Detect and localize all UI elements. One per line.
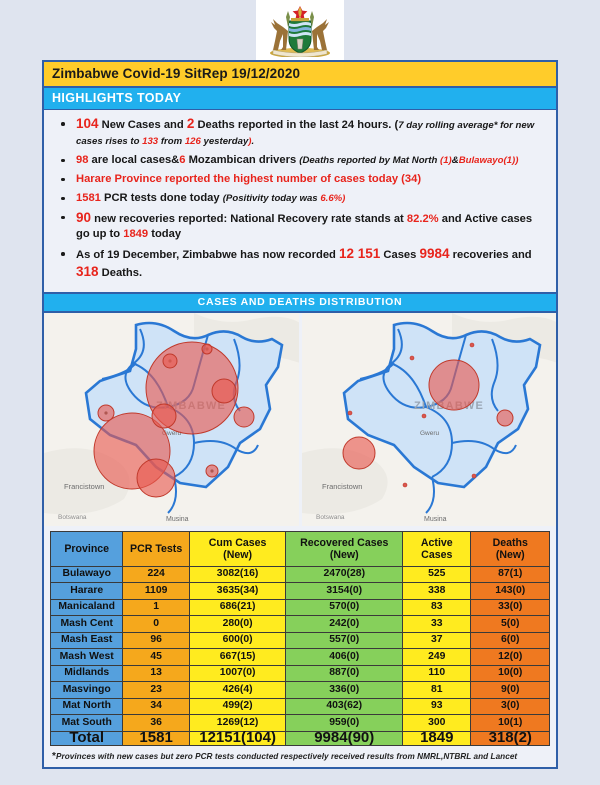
svg-text:Musina: Musina xyxy=(166,516,189,523)
highlight-recoveries: 90 new recoveries reported: National Rec… xyxy=(74,210,546,243)
cell-rec: 336(0) xyxy=(286,682,403,699)
cell-cum: 600(0) xyxy=(189,632,286,649)
cell-cum: 12151(104) xyxy=(189,731,286,745)
cell-dth: 5(0) xyxy=(471,616,550,633)
cell-cum: 426(4) xyxy=(189,682,286,699)
map-bubble xyxy=(429,360,479,410)
table-row: Mash West45667(15)406(0)24912(0) xyxy=(51,649,550,666)
cell-pcr: 1109 xyxy=(123,583,189,600)
map-bubble xyxy=(234,407,254,427)
cell-cum: 1007(0) xyxy=(189,665,286,682)
svg-text:Botswana: Botswana xyxy=(58,514,87,521)
highlight-new-cases-deaths: 104 New Cases and 2 Deaths reported in t… xyxy=(74,116,546,149)
cell-pcr: 34 xyxy=(123,698,189,715)
map-bubble xyxy=(472,474,476,478)
page-title: Zimbabwe Covid-19 SitRep 19/12/2020 xyxy=(44,62,556,88)
cell-act: 93 xyxy=(403,698,471,715)
coat-of-arms-icon xyxy=(261,3,339,57)
col-header-province: Province xyxy=(51,532,123,567)
cell-cum: 3082(16) xyxy=(189,566,286,583)
cell-province: Harare xyxy=(51,583,123,600)
cell-rec: 403(62) xyxy=(286,698,403,715)
cell-rec: 570(0) xyxy=(286,599,403,616)
cell-dth: 10(0) xyxy=(471,665,550,682)
cell-act: 81 xyxy=(403,682,471,699)
map-bubble xyxy=(497,410,513,426)
table-body: Bulawayo2243082(16)2470(28)52587(1)Harar… xyxy=(51,566,550,745)
zimbabwe-coat-of-arms-emblem xyxy=(256,0,344,62)
table-row: Masvingo23426(4)336(0)819(0) xyxy=(51,682,550,699)
cell-dth: 318(2) xyxy=(471,731,550,745)
cell-pcr: 1 xyxy=(123,599,189,616)
cell-rec: 242(0) xyxy=(286,616,403,633)
map-bubble xyxy=(98,405,114,421)
cell-act: 37 xyxy=(403,632,471,649)
svg-text:Francistown: Francistown xyxy=(322,482,362,491)
map-bubble xyxy=(343,437,375,469)
cell-province: Bulawayo xyxy=(51,566,123,583)
table-footnote: *Provinces with new cases but zero PCR t… xyxy=(44,748,556,767)
cell-dth: 143(0) xyxy=(471,583,550,600)
map-bubble xyxy=(202,344,212,354)
svg-text:Gweru: Gweru xyxy=(420,430,440,437)
map-bubble xyxy=(137,459,175,497)
table-header-row: Province PCR Tests Cum Cases (New) Recov… xyxy=(51,532,550,567)
report-card: Zimbabwe Covid-19 SitRep 19/12/2020 HIGH… xyxy=(42,60,558,769)
cell-rec: 3154(0) xyxy=(286,583,403,600)
map-bubble xyxy=(152,404,176,428)
map-bubble xyxy=(470,343,474,347)
map-bubble xyxy=(206,465,218,477)
cell-act: 525 xyxy=(403,566,471,583)
map-bubble xyxy=(410,356,414,360)
map-bubble xyxy=(422,414,426,418)
cell-pcr: 224 xyxy=(123,566,189,583)
cell-cum: 667(15) xyxy=(189,649,286,666)
cases-map-graphic: ZIMBABWE Francistown Gweru Musina Botswa… xyxy=(44,313,299,526)
province-table-wrap: Province PCR Tests Cum Cases (New) Recov… xyxy=(44,526,556,748)
cell-cum: 3635(34) xyxy=(189,583,286,600)
table-row: Mat South361269(12)959(0)30010(1) xyxy=(51,715,550,732)
map-bubble xyxy=(403,483,407,487)
table-total-row: Total158112151(104)9984(90)1849318(2) xyxy=(51,731,550,745)
col-header-pcr-tests: PCR Tests xyxy=(123,532,189,567)
table-row: Bulawayo2243082(16)2470(28)52587(1) xyxy=(51,566,550,583)
cases-map-pane[interactable]: ZIMBABWE Francistown Gweru Musina Botswa… xyxy=(44,313,299,526)
cell-act: 33 xyxy=(403,616,471,633)
cell-pcr: 0 xyxy=(123,616,189,633)
deaths-map-pane[interactable]: ZIMBABWE Francistown Gweru Musina Botswa… xyxy=(299,313,557,526)
table-row: Mash Cent0280(0)242(0)335(0) xyxy=(51,616,550,633)
deaths-map-graphic: ZIMBABWE Francistown Gweru Musina Botswa… xyxy=(302,313,557,526)
cell-pcr: 45 xyxy=(123,649,189,666)
highlight-local-cases-drivers: 98 are local cases&6 Mozambican drivers … xyxy=(74,153,546,169)
cell-rec: 887(0) xyxy=(286,665,403,682)
cell-rec: 406(0) xyxy=(286,649,403,666)
col-header-active-cases: Active Cases xyxy=(403,532,471,567)
col-header-recovered-cases: Recovered Cases (New) xyxy=(286,532,403,567)
table-row: Mash East96600(0)557(0)376(0) xyxy=(51,632,550,649)
table-row: Harare11093635(34)3154(0)338143(0) xyxy=(51,583,550,600)
cell-province: Mash Cent xyxy=(51,616,123,633)
cell-province: Masvingo xyxy=(51,682,123,699)
highlights-list: 104 New Cases and 2 Deaths reported in t… xyxy=(48,116,546,281)
highlights-bullet-area: 104 New Cases and 2 Deaths reported in t… xyxy=(44,110,556,292)
cell-pcr: 13 xyxy=(123,665,189,682)
cell-province: Mash East xyxy=(51,632,123,649)
cell-province: Mash West xyxy=(51,649,123,666)
maps-section-header: CASES AND DEATHS DISTRIBUTION xyxy=(44,292,556,314)
cell-rec: 9984(90) xyxy=(286,731,403,745)
cell-cum: 686(21) xyxy=(189,599,286,616)
cell-province: Midlands xyxy=(51,665,123,682)
table-row: Manicaland1686(21)570(0)8333(0) xyxy=(51,599,550,616)
svg-text:Musina: Musina xyxy=(424,516,447,523)
cell-province: Manicaland xyxy=(51,599,123,616)
cell-dth: 33(0) xyxy=(471,599,550,616)
svg-text:Botswana: Botswana xyxy=(316,514,345,521)
cell-pcr: 23 xyxy=(123,682,189,699)
cell-dth: 9(0) xyxy=(471,682,550,699)
province-statistics-table: Province PCR Tests Cum Cases (New) Recov… xyxy=(50,531,550,746)
highlights-section-header: HIGHLIGHTS TODAY xyxy=(44,88,556,110)
cell-cum: 499(2) xyxy=(189,698,286,715)
cell-province: Total xyxy=(51,731,123,745)
cell-province: Mat North xyxy=(51,698,123,715)
highlight-harare-highest: Harare Province reported the highest num… xyxy=(74,172,546,188)
highlight-cumulative: As of 19 December, Zimbabwe has now reco… xyxy=(74,246,546,281)
maps-row: ZIMBABWE Francistown Gweru Musina Botswa… xyxy=(44,313,556,526)
map-bubble xyxy=(212,379,236,403)
cell-dth: 87(1) xyxy=(471,566,550,583)
cell-rec: 2470(28) xyxy=(286,566,403,583)
cell-act: 83 xyxy=(403,599,471,616)
map-bubble xyxy=(163,354,177,368)
table-row: Mat North34499(2)403(62)933(0) xyxy=(51,698,550,715)
cell-dth: 3(0) xyxy=(471,698,550,715)
cell-pcr: 96 xyxy=(123,632,189,649)
cell-act: 110 xyxy=(403,665,471,682)
svg-text:Francistown: Francistown xyxy=(64,482,104,491)
cell-rec: 557(0) xyxy=(286,632,403,649)
cell-act: 1849 xyxy=(403,731,471,745)
table-row: Midlands131007(0)887(0)11010(0) xyxy=(51,665,550,682)
cell-dth: 12(0) xyxy=(471,649,550,666)
cell-dth: 6(0) xyxy=(471,632,550,649)
sitrep-page: Zimbabwe Covid-19 SitRep 19/12/2020 HIGH… xyxy=(0,0,600,785)
highlight-pcr-tests: 1581 PCR tests done today (Positivity to… xyxy=(74,191,546,207)
col-header-cum-cases: Cum Cases (New) xyxy=(189,532,286,567)
map-bubble xyxy=(348,411,352,415)
cell-pcr: 1581 xyxy=(123,731,189,745)
cell-cum: 280(0) xyxy=(189,616,286,633)
cell-act: 249 xyxy=(403,649,471,666)
col-header-deaths: Deaths (New) xyxy=(471,532,550,567)
cell-act: 338 xyxy=(403,583,471,600)
